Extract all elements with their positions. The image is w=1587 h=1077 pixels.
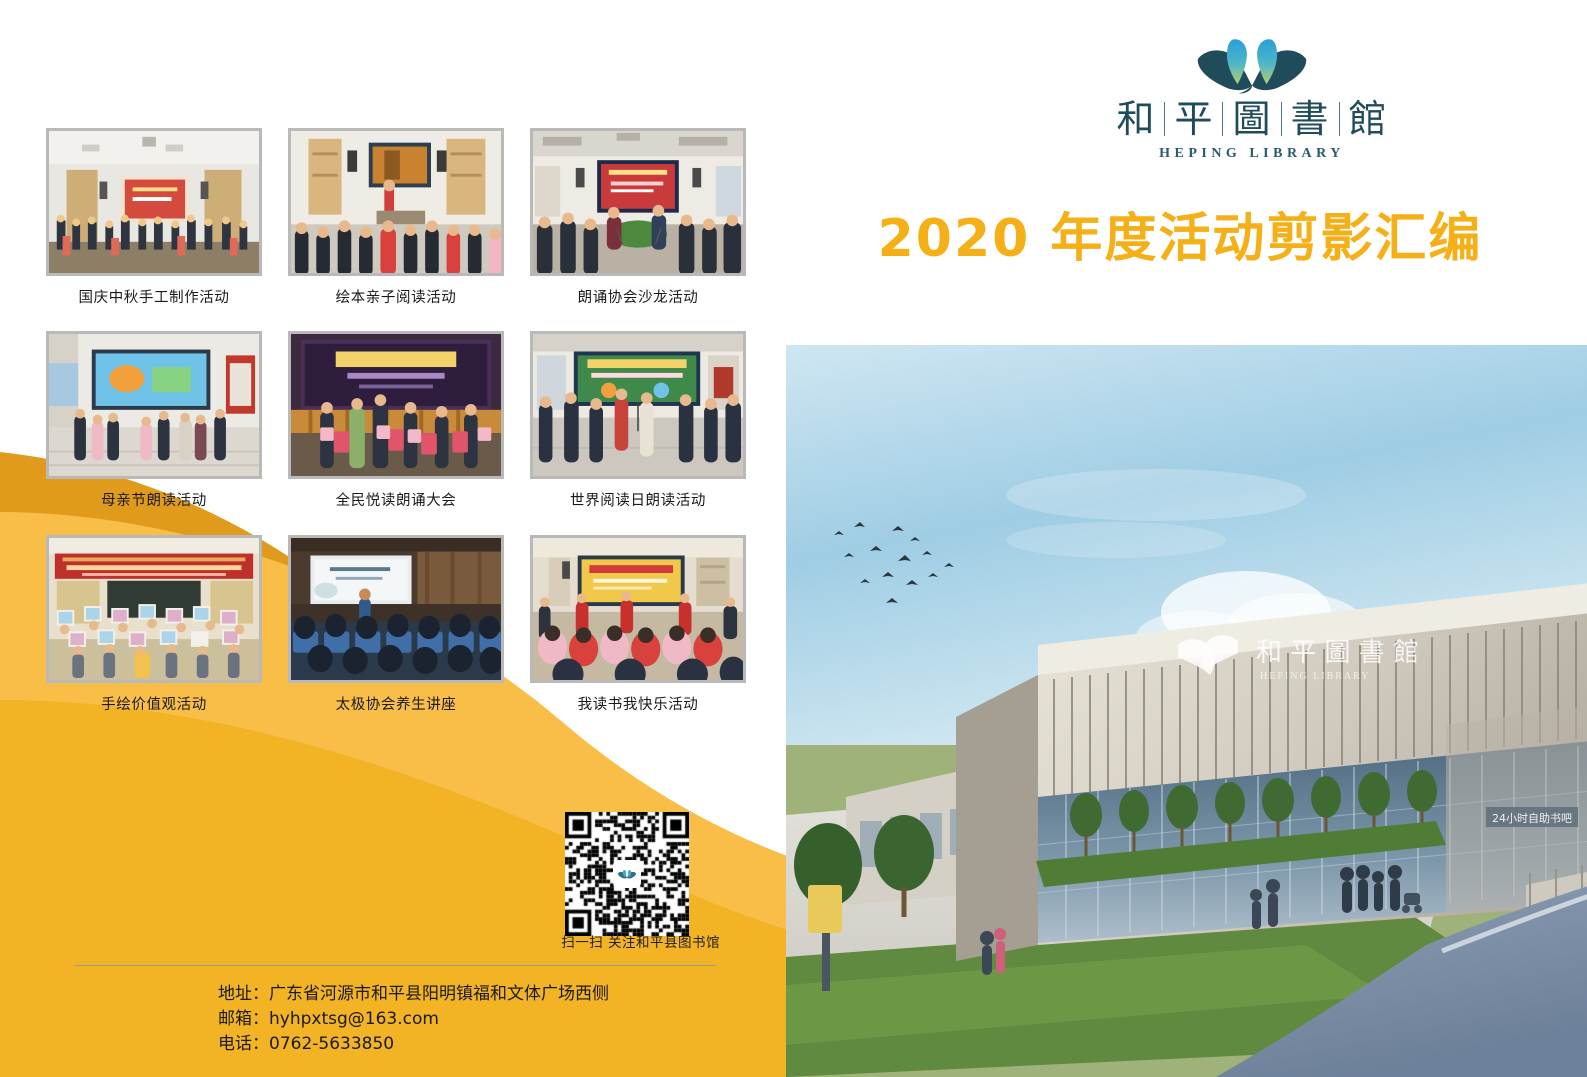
- photo-caption: 全民悦读朗诵大会: [288, 493, 504, 510]
- brand-char-1: 平: [1165, 100, 1222, 138]
- brand-char-3: 書: [1282, 100, 1339, 138]
- activity-photo[interactable]: [46, 128, 262, 276]
- activity-photo[interactable]: [288, 128, 504, 276]
- photo-cell[interactable]: 国庆中秋手工制作活动: [46, 128, 262, 307]
- activity-photo[interactable]: [288, 535, 504, 683]
- contact-email: 邮箱：hyhpxtsg@163.com: [218, 1007, 609, 1032]
- photo-caption: 绘本亲子阅读活动: [288, 290, 504, 307]
- contact-phone: 电话：0762-5633850: [218, 1032, 609, 1057]
- brand-char-4: 館: [1340, 100, 1397, 138]
- activity-photo-grid: 国庆中秋手工制作活动: [46, 128, 746, 728]
- activity-photo[interactable]: [46, 535, 262, 683]
- qr-center-logo-icon: [613, 860, 641, 888]
- svg-text:24小时自助书吧: 24小时自助书吧: [1492, 811, 1572, 825]
- photo-row: 手绘价值观活动: [46, 535, 746, 714]
- contact-block: 地址：广东省河源市和平县阳明镇福和文体广场西侧 邮箱：hyhpxtsg@163.…: [218, 982, 609, 1057]
- photo-cell[interactable]: 我读书我快乐活动: [530, 535, 746, 714]
- activity-photo[interactable]: [288, 331, 504, 479]
- contact-address: 地址：广东省河源市和平县阳明镇福和文体广场西侧: [218, 982, 609, 1007]
- photo-cell[interactable]: 手绘价值观活动: [46, 535, 262, 714]
- footer-divider: [75, 965, 716, 966]
- photo-caption: 国庆中秋手工制作活动: [46, 290, 262, 307]
- photo-caption: 世界阅读日朗读活动: [530, 493, 746, 510]
- svg-text:HEPING LIBRARY: HEPING LIBRARY: [1260, 671, 1371, 682]
- photo-caption: 母亲节朗读活动: [46, 493, 262, 510]
- activity-photo[interactable]: [530, 331, 746, 479]
- photo-row: 国庆中秋手工制作活动: [46, 128, 746, 307]
- brand-name-en: HEPING LIBRARY: [1072, 146, 1432, 162]
- photo-cell[interactable]: 全民悦读朗诵大会: [288, 331, 504, 510]
- page-title: 2020 年度活动剪影汇编: [780, 196, 1580, 271]
- brand-block: 和 平 圖 書 館 HEPING LIBRARY: [1072, 30, 1432, 162]
- poster-page: 和 平 圖 書 館 HEPING LIBRARY 2020 年度活动剪影汇编: [0, 0, 1587, 1077]
- qr-caption: 扫一扫 关注和平县图书馆: [420, 931, 720, 951]
- photo-cell[interactable]: 朗诵协会沙龙活动: [530, 128, 746, 307]
- photo-caption: 太极协会养生讲座: [288, 697, 504, 714]
- brand-char-2: 圖: [1223, 100, 1280, 138]
- photo-cell[interactable]: 世界阅读日朗读活动: [530, 331, 746, 510]
- wechat-qr-code[interactable]: [565, 812, 689, 936]
- photo-cell[interactable]: 母亲节朗读活动: [46, 331, 262, 510]
- activity-photo[interactable]: [46, 331, 262, 479]
- photo-cell[interactable]: 太极协会养生讲座: [288, 535, 504, 714]
- photo-cell[interactable]: 绘本亲子阅读活动: [288, 128, 504, 307]
- hero-building-photo: 和 平 圖 書 館 HEPING LIBRARY: [786, 345, 1587, 1077]
- brand-char-0: 和: [1107, 100, 1164, 138]
- library-butterfly-logo-icon: [1186, 30, 1318, 96]
- activity-photo[interactable]: [530, 128, 746, 276]
- svg-text:和 平 圖 書 館: 和 平 圖 書 館: [1256, 638, 1419, 668]
- activity-photo[interactable]: [530, 535, 746, 683]
- brand-name-cn: 和 平 圖 書 館: [1072, 100, 1432, 138]
- photo-caption: 我读书我快乐活动: [530, 697, 746, 714]
- photo-caption: 朗诵协会沙龙活动: [530, 290, 746, 307]
- photo-row: 母亲节朗读活动: [46, 331, 746, 510]
- photo-caption: 手绘价值观活动: [46, 697, 262, 714]
